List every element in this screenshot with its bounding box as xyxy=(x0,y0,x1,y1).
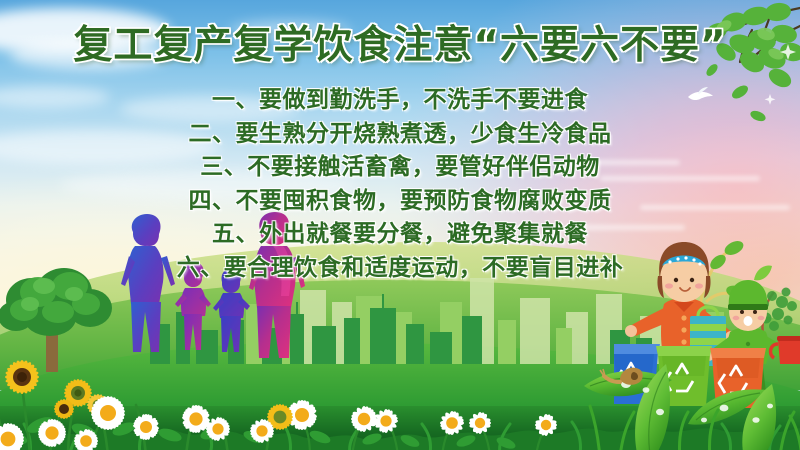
list-item: 六、要合理饮食和适度运动，不要盲目进补 xyxy=(0,252,800,286)
flowers-mid xyxy=(280,361,580,450)
daisy xyxy=(374,409,399,434)
guideline-list: 一、要做到勤洗手，不洗手不要进食 二、要生熟分开烧熟煮透，少食生冷食品 三、不要… xyxy=(0,84,800,285)
daisy xyxy=(468,411,491,434)
poster-canvas: 复工复产复学饮食注意“六要六不要” 一、要做到勤洗手，不洗手不要进食 二、要生熟… xyxy=(0,0,800,450)
sunflower xyxy=(5,360,40,395)
daisy xyxy=(133,414,160,441)
dew-leaves-foreground xyxy=(580,328,800,450)
daisy xyxy=(534,413,557,436)
flowers-left xyxy=(0,321,320,450)
list-item: 三、不要接触活畜禽，要管好伴侣动物 xyxy=(0,151,800,185)
list-item: 四、不要囤积食物，要预防食物腐败变质 xyxy=(0,185,800,219)
list-item: 二、要生熟分开烧熟煮透，少食生冷食品 xyxy=(0,118,800,152)
daisy xyxy=(350,405,377,432)
list-item: 五、外出就餐要分餐，避免聚集就餐 xyxy=(0,218,800,252)
page-title: 复工复产复学饮食注意“六要六不要” xyxy=(0,14,800,70)
daisy xyxy=(439,410,464,435)
daisy xyxy=(0,422,25,450)
list-item: 一、要做到勤洗手，不洗手不要进食 xyxy=(0,84,800,118)
